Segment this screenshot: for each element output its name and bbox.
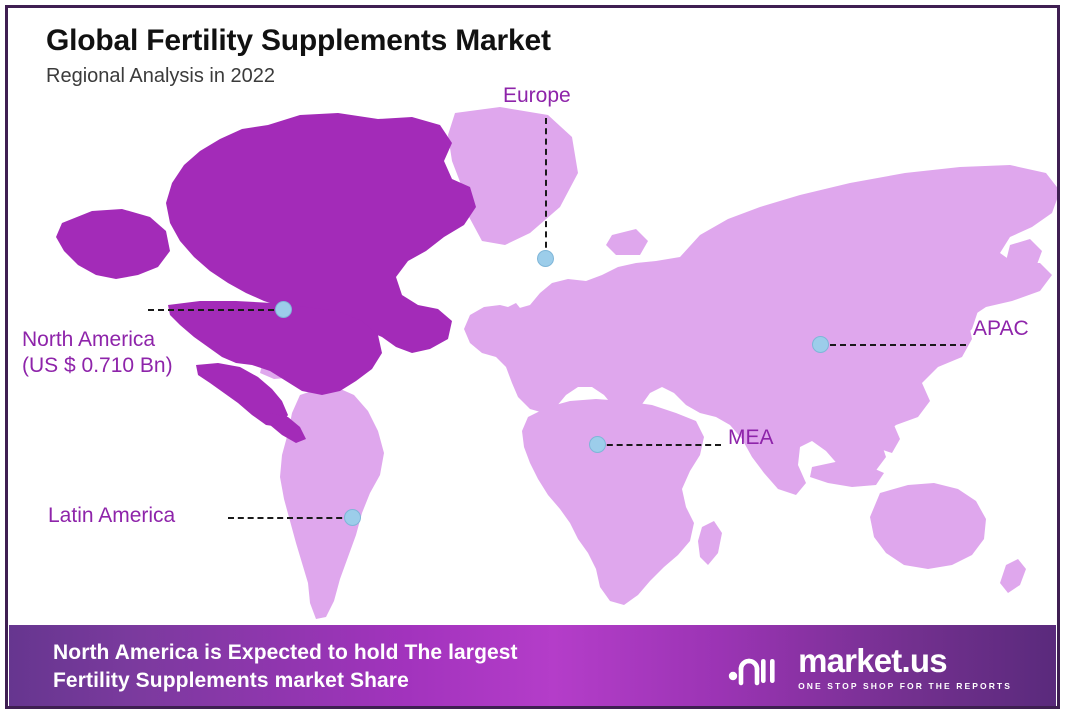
- leader-line-europe: [545, 118, 547, 258]
- region-alaska: [56, 209, 170, 279]
- map-marker-north-america[interactable]: [275, 301, 292, 318]
- region-greenland: [448, 107, 578, 245]
- page-title: Global Fertility Supplements Market: [46, 24, 551, 59]
- leader-line-latin-america: [228, 517, 352, 519]
- region-name-north-america: North America: [22, 328, 155, 351]
- logo-wordmark: market.us: [798, 644, 1012, 677]
- region-label-north-america: North America (US $ 0.710 Bn): [22, 327, 173, 378]
- market-us-logo-icon: [727, 645, 785, 689]
- region-label-latin-america: Latin America: [48, 503, 175, 529]
- region-new-zealand: [1000, 559, 1026, 593]
- map-highlight-regions: [56, 113, 476, 443]
- region-label-apac: APAC: [973, 316, 1029, 342]
- region-africa: [522, 399, 704, 605]
- leader-line-mea: [597, 444, 721, 446]
- map-marker-latin-america[interactable]: [344, 509, 361, 526]
- region-value-north-america: (US $ 0.710 Bn): [22, 353, 173, 379]
- logo-text: market.us ONE STOP SHOP FOR THE REPORTS: [798, 644, 1012, 691]
- region-label-mea: MEA: [728, 425, 774, 451]
- map-marker-mea[interactable]: [589, 436, 606, 453]
- map-marker-apac[interactable]: [812, 336, 829, 353]
- region-south-america: [280, 387, 384, 619]
- banner-line-2: Fertility Supplements market Share: [53, 667, 518, 695]
- region-australia: [870, 483, 986, 569]
- infographic-root: Global Fertility Supplements Market Regi…: [0, 0, 1065, 714]
- map-marker-europe[interactable]: [537, 250, 554, 267]
- header: Global Fertility Supplements Market Regi…: [46, 24, 551, 88]
- banner-headline: North America is Expected to hold The la…: [53, 639, 518, 696]
- leader-line-north-america: [148, 309, 284, 311]
- logo-tagline: ONE STOP SHOP FOR THE REPORTS: [798, 682, 1012, 691]
- page-subtitle: Regional Analysis in 2022: [46, 65, 551, 88]
- region-label-europe: Europe: [503, 83, 571, 109]
- banner-line-1: North America is Expected to hold The la…: [53, 641, 518, 664]
- region-madagascar: [698, 521, 722, 565]
- region-iceland: [606, 229, 648, 255]
- leader-line-apac: [820, 344, 966, 346]
- footer-banner: North America is Expected to hold The la…: [9, 625, 1056, 709]
- brand-logo[interactable]: market.us ONE STOP SHOP FOR THE REPORTS: [727, 644, 1030, 691]
